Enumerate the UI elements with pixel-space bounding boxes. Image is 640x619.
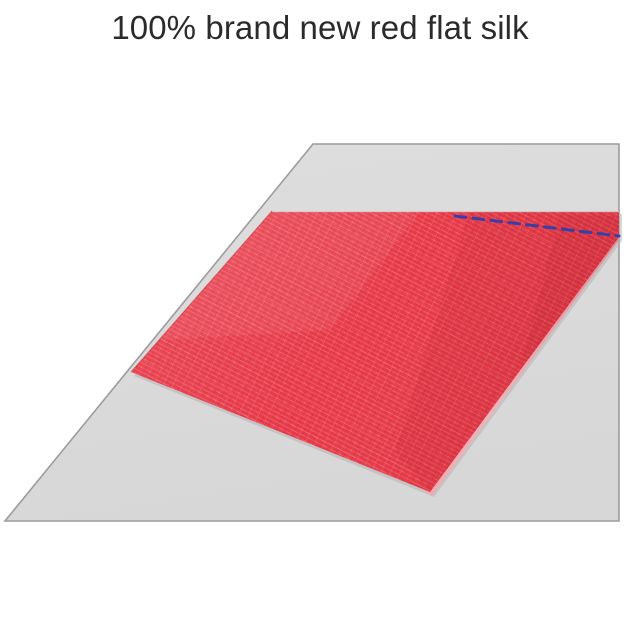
red-silk-sheet <box>0 0 640 619</box>
fabric-illustration <box>0 0 640 619</box>
illustration-canvas: 100% brand new red flat silk <box>0 0 640 619</box>
